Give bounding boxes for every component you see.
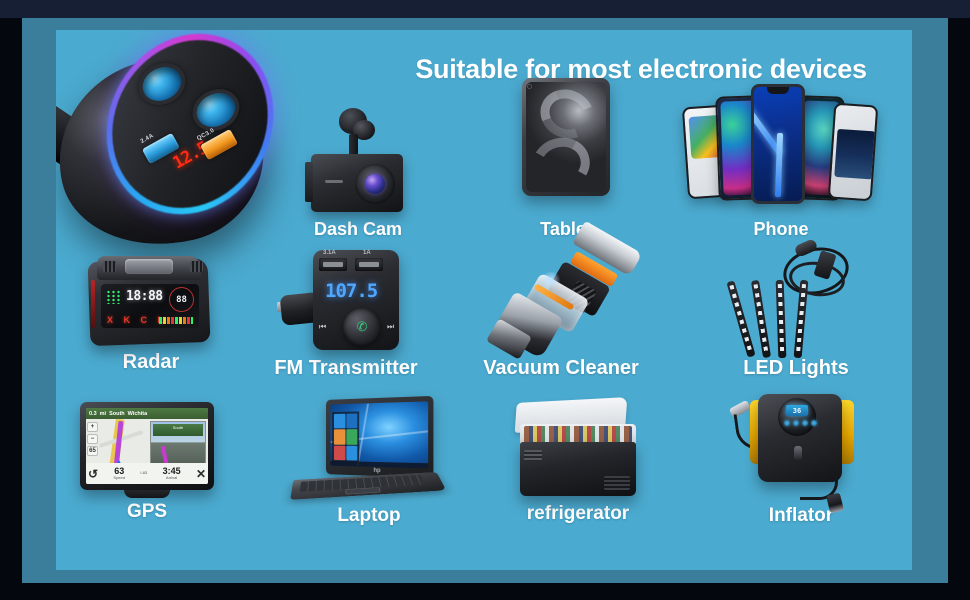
content-panel: Suitable for most electronic devices 2.4… [56,30,912,570]
device-cell-refrigerator: refrigerator [488,400,668,523]
led-strip-3 [776,280,787,358]
start-tile-6 [345,445,356,460]
gps-distance-unit: mi [100,411,106,417]
gps-speed-caption: Speed [113,476,125,480]
inflator-12v-plug [826,493,844,514]
start-tile-1 [333,414,344,429]
gps-city: Wichita [128,411,148,417]
gps-road-readout: I-83 [140,471,147,475]
device-cell-laptop: hp Laptop [274,398,464,525]
start-tile-3 [333,430,344,445]
gps-speed-limit-badge: 65 [87,446,98,456]
dash-cam-illustration [303,108,413,220]
tablet-wallpaper-swirl-2 [526,131,596,192]
fm-usb-port-b [355,258,383,271]
gps-close-button[interactable]: ✕ [196,467,206,481]
start-menu-tiles [332,411,359,462]
tablet-camera-icon [527,84,532,89]
gps-zoom-out-button[interactable]: − [87,434,98,444]
radar-side-light [91,280,95,328]
inflator-button-2[interactable] [793,420,799,426]
refrigerator-illustration [514,400,642,504]
radar-band-indicators: X K C L [107,315,167,325]
gps-back-button[interactable]: ↺ [88,467,98,481]
device-cell-vacuum-cleaner: Vacuum Cleaner [461,246,661,378]
laptop-trackpad [345,487,381,494]
fm-frequency-display: 107.5 [325,280,377,302]
gps-distance: 0.3 [89,411,97,417]
camera-lens-icon [365,174,385,194]
fm-transmitter-illustration: 3.1A 1A 107.5 ⏮ ⏭ [281,246,411,358]
laptop-brand-mark: hp [373,468,380,474]
laptop-screen [330,401,428,468]
phone-5 [828,103,879,202]
inflator-power-switch[interactable] [794,446,802,460]
gps-speed-readout: 63 Speed [113,467,125,481]
inflator-gauge-bezel [778,398,816,436]
phone-wallpaper-beam-2 [775,133,783,197]
device-label-fm-transmitter: FM Transmitter [251,358,441,378]
device-label-radar: Radar [66,352,236,372]
phone-notch [767,87,789,94]
vacuum-led-glow [540,272,562,288]
device-cell-inflator: 36 Inflator [716,390,886,525]
gps-road-sign: South [153,424,203,436]
inflator-button-4[interactable] [811,420,817,426]
vacuum-cleaner-illustration [476,246,646,358]
start-tile-5 [333,445,344,460]
previous-track-icon: ⏮ [319,322,326,332]
device-label-inflator: Inflator [716,506,886,525]
inflator-lcd-display: 36 [786,405,808,416]
device-label-led-lights: LED Lights [711,358,881,378]
led-strip-2 [751,280,771,358]
radar-display-digits: 18:88 [126,289,163,304]
start-tile-4 [345,429,356,444]
gps-zoom-in-button[interactable]: + [87,422,98,432]
start-tile-2 [345,413,356,428]
fm-usb-b-amp-label: 1A [363,250,371,256]
device-label-vacuum-cleaner: Vacuum Cleaner [461,358,661,378]
radar-screen: 18:88 88 X K C L [101,284,199,328]
radar-detector-illustration: 18:88 88 X K C L [89,252,213,352]
refrigerator-vent [604,476,630,490]
device-label-gps: GPS [62,502,232,521]
refrigerator-body [520,442,636,496]
led-strip-1 [726,280,755,357]
vacuum-assembly [486,250,636,358]
device-label-refrigerator: refrigerator [488,504,668,523]
inflator-button-3[interactable] [802,420,808,426]
device-cell-dash-cam: Dash Cam [288,108,428,238]
radar-control-pad [125,259,173,274]
device-cell-tablet: Tablet [496,78,636,238]
gps-illustration: 0.3 mi South Wichita [80,402,214,502]
phone-cluster-illustration [685,78,877,220]
tablet-screen [526,82,606,192]
device-cell-radar: 18:88 88 X K C L Radar [66,252,236,372]
device-label-tablet: Tablet [496,220,636,238]
device-label-laptop: Laptop [274,506,464,525]
inflator-illustration: 36 [736,390,866,506]
gps-sign-street: South [173,425,183,430]
laptop-illustration: hp [287,398,452,506]
gps-status-bar: ↺ 63 Speed I-83 3:45 Arrival [86,463,208,484]
radar-signal-dots [106,290,122,304]
tablet-illustration [504,78,628,220]
dash-cam-button [325,180,343,183]
inflator-button-1[interactable] [784,420,790,426]
gps-body: 0.3 mi South Wichita [80,402,214,490]
gps-map-controls: + − 65 [87,422,98,456]
device-label-dash-cam: Dash Cam [288,220,428,238]
radar-secondary-digits: 88 [169,287,194,312]
laptop-lid: hp [326,396,433,478]
device-cell-fm-transmitter: 3.1A 1A 107.5 ⏮ ⏭ FM Transmitter [251,246,441,378]
tablet-body [522,78,610,196]
device-cell-led-lights: LED Lights [711,246,881,378]
phone-3-center [751,84,805,204]
fm-usb-port-a [319,258,347,271]
refrigerator-handle [524,450,542,461]
next-track-icon: ⏭ [387,322,394,332]
gps-street: South [109,411,125,417]
product-banner: Suitable for most electronic devices 2.4… [0,0,970,600]
dash-cam-side-panel [305,162,313,202]
fm-dial-call-button [343,308,381,346]
fm-usb-a-amp-label: 3.1A [323,250,336,256]
top-bar [0,0,970,18]
radar-vent-left [103,261,116,272]
gps-navigation-bar: 0.3 mi South Wichita [86,408,208,419]
laptop-base [290,472,446,500]
radar-vent-right [190,261,203,272]
gps-road-caption: I-83 [140,471,147,475]
device-cell-gps: 0.3 mi South Wichita [62,402,232,521]
gps-arrival-readout: 3:45 Arrival [163,467,181,481]
device-cell-phone: Phone [681,78,881,238]
radar-strength-bar [159,317,193,324]
gps-arrival-caption: Arrival [163,476,181,480]
device-label-phone: Phone [681,220,881,238]
inflator-button-group [784,420,817,426]
gps-screen: 0.3 mi South Wichita [86,408,208,484]
led-lights-illustration [731,246,861,358]
